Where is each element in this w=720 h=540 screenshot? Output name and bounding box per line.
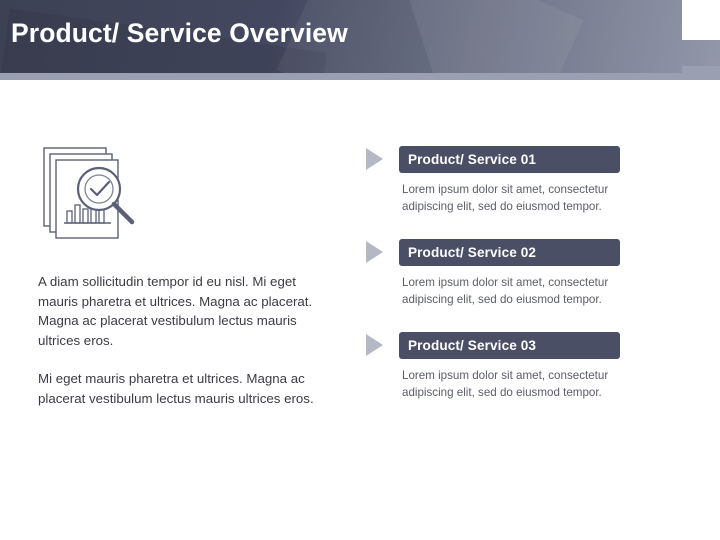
left-description: A diam sollicitudin tempor id eu nisl. M… xyxy=(38,272,334,408)
slide-header: Product/ Service Overview xyxy=(0,0,720,73)
item-body-3: Lorem ipsum dolor sit amet, consectetur … xyxy=(402,368,660,401)
item-title-bar-1[interactable]: Product/ Service 01 xyxy=(399,146,620,173)
triangle-right-icon xyxy=(366,334,383,356)
item-header-3: Product/ Service 03 xyxy=(366,332,686,359)
item-title-3: Product/ Service 03 xyxy=(399,338,536,353)
left-paragraph-2: Mi eget mauris pharetra et ultrices. Mag… xyxy=(38,369,334,408)
left-paragraph-1: A diam sollicitudin tempor id eu nisl. M… xyxy=(38,272,334,350)
header-accent-strip xyxy=(0,73,682,80)
item-body-1: Lorem ipsum dolor sit amet, consectetur … xyxy=(402,182,660,215)
item-title-2: Product/ Service 02 xyxy=(399,245,536,260)
documents-with-magnifier-icon xyxy=(41,145,149,255)
list-item: Product/ Service 03 Lorem ipsum dolor si… xyxy=(366,332,686,401)
item-title-bar-2[interactable]: Product/ Service 02 xyxy=(399,239,620,266)
item-title-bar-3[interactable]: Product/ Service 03 xyxy=(399,332,620,359)
item-body-2: Lorem ipsum dolor sit amet, consectetur … xyxy=(402,275,660,308)
right-column: Product/ Service 01 Lorem ipsum dolor si… xyxy=(366,146,686,425)
slide: Product/ Service Overview xyxy=(0,0,720,540)
item-header-2: Product/ Service 02 xyxy=(366,239,686,266)
triangle-right-icon xyxy=(366,148,383,170)
header-decor-shape-b xyxy=(406,0,720,73)
item-header-1: Product/ Service 01 xyxy=(366,146,686,173)
list-item: Product/ Service 01 Lorem ipsum dolor si… xyxy=(366,146,686,215)
header-notch xyxy=(682,0,720,40)
item-title-1: Product/ Service 01 xyxy=(399,152,536,167)
triangle-right-icon xyxy=(366,241,383,263)
list-item: Product/ Service 02 Lorem ipsum dolor si… xyxy=(366,239,686,308)
page-title: Product/ Service Overview xyxy=(11,18,348,50)
header-accent-strip-right xyxy=(682,66,720,80)
